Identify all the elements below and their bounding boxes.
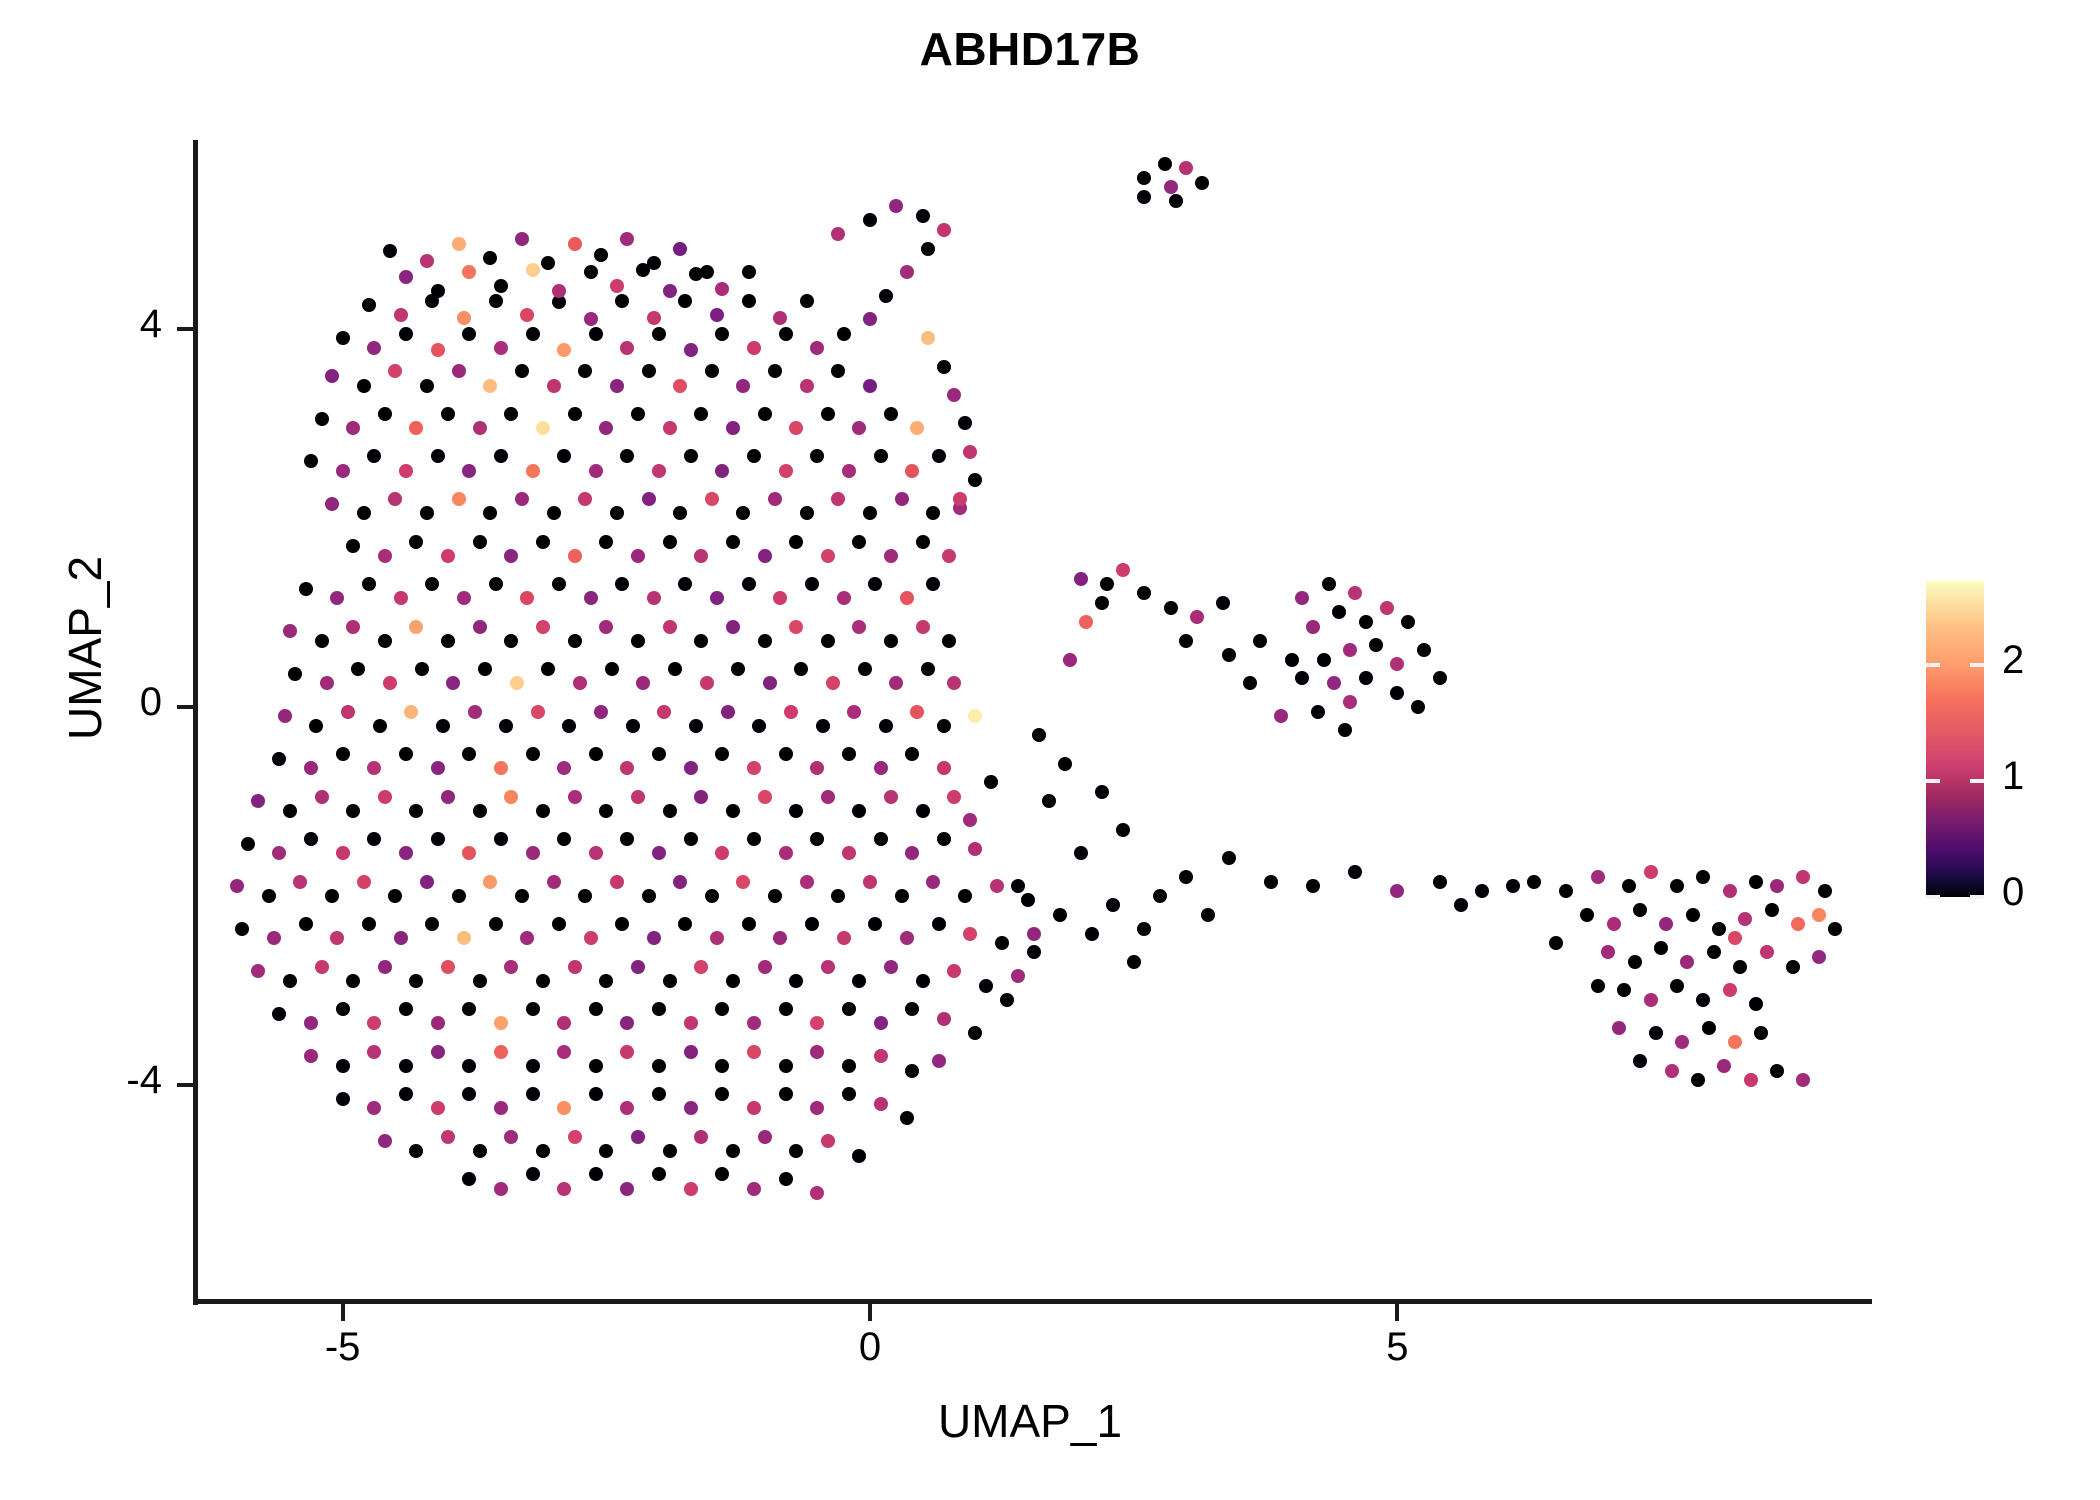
scatter-point bbox=[399, 1059, 413, 1073]
scatter-point bbox=[1549, 936, 1563, 950]
scatter-point bbox=[452, 364, 466, 378]
scatter-point bbox=[1027, 945, 1041, 959]
scatter-point bbox=[388, 889, 402, 903]
scatter-point bbox=[631, 1130, 645, 1144]
scatter-point bbox=[536, 804, 550, 818]
scatter-point bbox=[584, 312, 598, 326]
scatter-point bbox=[589, 464, 603, 478]
scatter-point bbox=[436, 719, 450, 733]
scatter-point bbox=[1433, 875, 1447, 889]
scatter-point bbox=[726, 620, 740, 634]
scatter-point bbox=[747, 1045, 761, 1059]
scatter-point bbox=[536, 421, 550, 435]
scatter-point bbox=[378, 960, 392, 974]
scatter-point bbox=[420, 875, 434, 889]
scatter-point bbox=[1322, 577, 1336, 591]
scatter-point bbox=[678, 294, 692, 308]
scatter-point bbox=[557, 449, 571, 463]
scatter-point bbox=[489, 917, 503, 931]
scatter-point bbox=[594, 248, 608, 262]
scatter-point bbox=[779, 1087, 793, 1101]
scatter-point bbox=[346, 539, 360, 553]
scatter-point bbox=[652, 846, 666, 860]
scatter-point bbox=[852, 1149, 866, 1163]
scatter-point bbox=[842, 464, 856, 478]
scatter-point bbox=[1074, 572, 1088, 586]
scatter-point bbox=[494, 341, 508, 355]
scatter-point bbox=[1417, 643, 1431, 657]
scatter-point bbox=[689, 719, 703, 733]
scatter-point bbox=[847, 705, 861, 719]
scatter-point bbox=[779, 1002, 793, 1016]
scatter-point bbox=[388, 364, 402, 378]
scatter-point bbox=[473, 1144, 487, 1158]
colorbar-tick-mark bbox=[1970, 895, 1984, 899]
scatter-point bbox=[842, 1002, 856, 1016]
scatter-point bbox=[431, 1016, 445, 1030]
scatter-point bbox=[425, 577, 439, 591]
scatter-point bbox=[1179, 870, 1193, 884]
scatter-point bbox=[863, 379, 877, 393]
scatter-point bbox=[473, 421, 487, 435]
scatter-point bbox=[1100, 577, 1114, 591]
scatter-point bbox=[1137, 922, 1151, 936]
x-tick-label: -5 bbox=[273, 1325, 413, 1370]
scatter-point bbox=[378, 790, 392, 804]
scatter-point bbox=[599, 535, 613, 549]
scatter-point bbox=[367, 449, 381, 463]
scatter-point bbox=[842, 747, 856, 761]
scatter-point bbox=[615, 294, 629, 308]
scatter-point bbox=[262, 889, 276, 903]
scatter-point bbox=[758, 407, 772, 421]
scatter-point bbox=[599, 1144, 613, 1158]
scatter-point bbox=[652, 1059, 666, 1073]
scatter-point bbox=[605, 662, 619, 676]
scatter-point bbox=[230, 879, 244, 893]
y-tick-mark bbox=[177, 1083, 194, 1087]
scatter-point bbox=[1348, 586, 1362, 600]
scatter-point bbox=[958, 889, 972, 903]
scatter-point bbox=[1011, 879, 1025, 893]
scatter-point bbox=[315, 790, 329, 804]
scatter-point bbox=[399, 1002, 413, 1016]
scatter-point bbox=[520, 308, 534, 322]
scatter-point bbox=[852, 535, 866, 549]
scatter-point bbox=[1000, 993, 1014, 1007]
scatter-point bbox=[1628, 955, 1642, 969]
scatter-point bbox=[578, 364, 592, 378]
scatter-point bbox=[462, 265, 476, 279]
scatter-point bbox=[399, 464, 413, 478]
scatter-point bbox=[473, 804, 487, 818]
scatter-point bbox=[884, 407, 898, 421]
scatter-point bbox=[1032, 728, 1046, 742]
scatter-point bbox=[589, 747, 603, 761]
scatter-point bbox=[568, 549, 582, 563]
scatter-point bbox=[378, 407, 392, 421]
scatter-point bbox=[678, 577, 692, 591]
scatter-point bbox=[821, 1134, 835, 1148]
scatter-point bbox=[578, 492, 592, 506]
scatter-point bbox=[1027, 927, 1041, 941]
scatter-point bbox=[568, 790, 582, 804]
scatter-point bbox=[1691, 1073, 1705, 1087]
colorbar-tick-label: 0 bbox=[2002, 870, 2024, 915]
scatter-point bbox=[1659, 917, 1673, 931]
scatter-point bbox=[990, 879, 1004, 893]
scatter-point bbox=[1828, 922, 1842, 936]
scatter-point bbox=[937, 360, 951, 374]
scatter-point bbox=[810, 341, 824, 355]
scatter-point bbox=[589, 846, 603, 860]
scatter-point bbox=[504, 1130, 518, 1144]
scatter-point bbox=[868, 577, 882, 591]
scatter-point bbox=[694, 549, 708, 563]
x-axis-line bbox=[193, 1299, 1872, 1304]
scatter-point bbox=[293, 875, 307, 889]
scatter-point bbox=[547, 506, 561, 520]
scatter-point bbox=[863, 875, 877, 889]
scatter-point bbox=[494, 832, 508, 846]
scatter-point bbox=[241, 837, 255, 851]
scatter-point bbox=[299, 917, 313, 931]
scatter-point bbox=[1454, 898, 1468, 912]
scatter-point bbox=[747, 1182, 761, 1196]
scatter-point bbox=[557, 1016, 571, 1030]
scatter-point bbox=[810, 449, 824, 463]
scatter-point bbox=[879, 289, 893, 303]
y-tick-label: -4 bbox=[42, 1058, 162, 1103]
scatter-point bbox=[1591, 979, 1605, 993]
scatter-point bbox=[446, 676, 460, 690]
scatter-point bbox=[1306, 620, 1320, 634]
scatter-point bbox=[768, 492, 782, 506]
scatter-point bbox=[1633, 903, 1647, 917]
scatter-point bbox=[1617, 983, 1631, 997]
scatter-point bbox=[1380, 601, 1394, 615]
scatter-point bbox=[494, 1016, 508, 1030]
scatter-point bbox=[431, 761, 445, 775]
scatter-point bbox=[1717, 1059, 1731, 1073]
scatter-point bbox=[557, 1101, 571, 1115]
scatter-point bbox=[425, 294, 439, 308]
scatter-point bbox=[837, 591, 851, 605]
scatter-point bbox=[937, 719, 951, 733]
scatter-point bbox=[1116, 563, 1130, 577]
scatter-point bbox=[409, 535, 423, 549]
scatter-point bbox=[325, 889, 339, 903]
colorbar-legend bbox=[1926, 581, 1984, 897]
scatter-point bbox=[357, 875, 371, 889]
scatter-point bbox=[852, 620, 866, 634]
scatter-point bbox=[409, 620, 423, 634]
scatter-point bbox=[837, 931, 851, 945]
scatter-point bbox=[526, 1002, 540, 1016]
scatter-point bbox=[726, 535, 740, 549]
scatter-point bbox=[504, 407, 518, 421]
x-tick-mark bbox=[1395, 1304, 1399, 1321]
scatter-point bbox=[589, 1167, 603, 1181]
scatter-point bbox=[789, 1144, 803, 1158]
scatter-point bbox=[462, 464, 476, 478]
scatter-point bbox=[409, 421, 423, 435]
scatter-point bbox=[705, 492, 719, 506]
scatter-point bbox=[383, 676, 397, 690]
scatter-point bbox=[483, 875, 497, 889]
scatter-point bbox=[1274, 709, 1288, 723]
scatter-point bbox=[895, 492, 909, 506]
scatter-point bbox=[684, 832, 698, 846]
scatter-point bbox=[357, 506, 371, 520]
scatter-point bbox=[510, 676, 524, 690]
scatter-point bbox=[362, 917, 376, 931]
scatter-point bbox=[1169, 194, 1183, 208]
scatter-point bbox=[789, 620, 803, 634]
scatter-point bbox=[652, 747, 666, 761]
scatter-point bbox=[1201, 908, 1215, 922]
scatter-point bbox=[1559, 884, 1573, 898]
scatter-point bbox=[953, 492, 967, 506]
scatter-point bbox=[742, 577, 756, 591]
scatter-point bbox=[557, 1045, 571, 1059]
scatter-point bbox=[272, 846, 286, 860]
scatter-point bbox=[526, 747, 540, 761]
scatter-point bbox=[1633, 1054, 1647, 1068]
scatter-point bbox=[852, 804, 866, 818]
scatter-point bbox=[452, 889, 466, 903]
scatter-point bbox=[272, 1007, 286, 1021]
scatter-point bbox=[758, 960, 772, 974]
scatter-point bbox=[584, 591, 598, 605]
scatter-point bbox=[700, 676, 714, 690]
scatter-point bbox=[842, 1059, 856, 1073]
scatter-point bbox=[942, 549, 956, 563]
scatter-point bbox=[489, 294, 503, 308]
scatter-point bbox=[715, 846, 729, 860]
scatter-point bbox=[462, 1172, 476, 1186]
scatter-point bbox=[1095, 785, 1109, 799]
colorbar-gradient bbox=[1926, 581, 1984, 897]
scatter-point bbox=[526, 464, 540, 478]
scatter-point bbox=[620, 1101, 634, 1115]
scatter-point bbox=[937, 223, 951, 237]
scatter-point bbox=[910, 421, 924, 435]
scatter-point bbox=[673, 379, 687, 393]
scatter-point bbox=[900, 1111, 914, 1125]
scatter-point bbox=[715, 1002, 729, 1016]
scatter-point bbox=[367, 1101, 381, 1115]
scatter-point bbox=[1343, 695, 1357, 709]
scatter-point bbox=[916, 620, 930, 634]
scatter-point bbox=[726, 804, 740, 818]
scatter-point bbox=[584, 265, 598, 279]
scatter-point bbox=[736, 506, 750, 520]
scatter-point bbox=[394, 931, 408, 945]
scatter-point bbox=[921, 331, 935, 345]
scatter-point bbox=[589, 327, 603, 341]
scatter-point bbox=[932, 1054, 946, 1068]
scatter-point bbox=[489, 577, 503, 591]
scatter-point bbox=[715, 464, 729, 478]
scatter-point bbox=[932, 449, 946, 463]
scatter-point bbox=[515, 232, 529, 246]
scatter-point bbox=[684, 1182, 698, 1196]
scatter-point bbox=[826, 676, 840, 690]
scatter-point bbox=[710, 308, 724, 322]
scatter-point bbox=[694, 790, 708, 804]
scatter-point bbox=[910, 705, 924, 719]
scatter-point bbox=[668, 662, 682, 676]
scatter-point bbox=[631, 407, 645, 421]
scatter-point bbox=[784, 705, 798, 719]
scatter-point bbox=[652, 464, 666, 478]
scatter-point bbox=[984, 775, 998, 789]
scatter-point bbox=[742, 265, 756, 279]
scatter-point bbox=[842, 1087, 856, 1101]
scatter-point bbox=[1818, 884, 1832, 898]
scatter-point bbox=[620, 1045, 634, 1059]
scatter-point bbox=[726, 1144, 740, 1158]
scatter-point bbox=[1580, 908, 1594, 922]
scatter-point bbox=[726, 974, 740, 988]
scatter-point bbox=[620, 761, 634, 775]
scatter-point bbox=[346, 421, 360, 435]
scatter-point bbox=[1744, 1073, 1758, 1087]
scatter-point bbox=[947, 790, 961, 804]
scatter-point bbox=[336, 464, 350, 478]
scatter-point bbox=[504, 790, 518, 804]
scatter-point bbox=[462, 327, 476, 341]
scatter-point bbox=[578, 889, 592, 903]
scatter-point bbox=[1749, 997, 1763, 1011]
scatter-point bbox=[736, 379, 750, 393]
scatter-point bbox=[663, 974, 677, 988]
scatter-point bbox=[1754, 1026, 1768, 1040]
scatter-point bbox=[1433, 671, 1447, 685]
scatter-point bbox=[779, 846, 793, 860]
x-tick-label: 5 bbox=[1327, 1325, 1467, 1370]
scatter-point bbox=[694, 1130, 708, 1144]
scatter-point bbox=[705, 364, 719, 378]
scatter-point bbox=[1675, 1035, 1689, 1049]
scatter-point bbox=[731, 662, 745, 676]
scatter-point bbox=[346, 620, 360, 634]
scatter-point bbox=[810, 1101, 824, 1115]
scatter-point bbox=[694, 407, 708, 421]
scatter-point bbox=[979, 979, 993, 993]
scatter-point bbox=[673, 875, 687, 889]
scatter-point bbox=[431, 343, 445, 357]
scatter-point bbox=[462, 1002, 476, 1016]
scatter-point bbox=[336, 1059, 350, 1073]
scatter-point bbox=[610, 279, 624, 293]
scatter-point bbox=[947, 388, 961, 402]
scatter-point bbox=[1601, 945, 1615, 959]
umap-feature-plot: ABHD17B -404 -505 UMAP_1 UMAP_2 012 bbox=[0, 0, 2100, 1500]
scatter-point bbox=[810, 761, 824, 775]
scatter-point bbox=[1791, 917, 1805, 931]
scatter-point bbox=[373, 719, 387, 733]
scatter-point bbox=[1527, 875, 1541, 889]
scatter-point bbox=[631, 549, 645, 563]
scatter-point bbox=[768, 364, 782, 378]
scatter-point bbox=[367, 341, 381, 355]
scatter-point bbox=[1042, 794, 1056, 808]
scatter-point bbox=[367, 1045, 381, 1059]
scatter-point bbox=[1770, 1064, 1784, 1078]
scatter-point bbox=[1153, 889, 1167, 903]
scatter-point bbox=[779, 1172, 793, 1186]
scatter-point bbox=[810, 1016, 824, 1030]
scatter-point bbox=[568, 237, 582, 251]
scatter-point bbox=[968, 842, 982, 856]
colorbar-tick-mark bbox=[1926, 895, 1940, 899]
scatter-point bbox=[684, 1101, 698, 1115]
scatter-point bbox=[526, 846, 540, 860]
scatter-point bbox=[1649, 1026, 1663, 1040]
x-axis-title: UMAP_1 bbox=[0, 1394, 2060, 1448]
scatter-point bbox=[905, 747, 919, 761]
scatter-point bbox=[863, 506, 877, 520]
scatter-point bbox=[1058, 757, 1072, 771]
scatter-point bbox=[763, 676, 777, 690]
scatter-point bbox=[515, 889, 529, 903]
scatter-point bbox=[267, 931, 281, 945]
scatter-point bbox=[636, 676, 650, 690]
scatter-point bbox=[383, 244, 397, 258]
scatter-point bbox=[710, 591, 724, 605]
scatter-point bbox=[315, 960, 329, 974]
scatter-point bbox=[852, 974, 866, 988]
y-tick-label: 4 bbox=[42, 302, 162, 347]
scatter-point bbox=[1644, 993, 1658, 1007]
scatter-point bbox=[631, 960, 645, 974]
scatter-point bbox=[837, 327, 851, 341]
scatter-point bbox=[599, 974, 613, 988]
scatter-point bbox=[1390, 884, 1404, 898]
scatter-point bbox=[1253, 634, 1267, 648]
scatter-point bbox=[431, 832, 445, 846]
colorbar-tick-label: 2 bbox=[2002, 638, 2024, 683]
scatter-point bbox=[1285, 653, 1299, 667]
scatter-point bbox=[721, 705, 735, 719]
scatter-point bbox=[1295, 591, 1309, 605]
scatter-point bbox=[1222, 851, 1236, 865]
scatter-point bbox=[805, 577, 819, 591]
scatter-point bbox=[1723, 983, 1737, 997]
scatter-point bbox=[568, 960, 582, 974]
scatter-point bbox=[1390, 686, 1404, 700]
scatter-point bbox=[800, 379, 814, 393]
scatter-point bbox=[552, 577, 566, 591]
scatter-point bbox=[863, 312, 877, 326]
scatter-point bbox=[947, 676, 961, 690]
scatter-point bbox=[884, 549, 898, 563]
scatter-point bbox=[325, 497, 339, 511]
scatter-point bbox=[610, 875, 624, 889]
scatter-point bbox=[1670, 879, 1684, 893]
scatter-point bbox=[1011, 969, 1025, 983]
scatter-point bbox=[647, 931, 661, 945]
scatter-point bbox=[1411, 700, 1425, 714]
scatter-point bbox=[1654, 941, 1668, 955]
scatter-point bbox=[272, 752, 286, 766]
scatter-point bbox=[1670, 979, 1684, 993]
scatter-point bbox=[1243, 676, 1257, 690]
scatter-point bbox=[504, 960, 518, 974]
scatter-point bbox=[399, 270, 413, 284]
